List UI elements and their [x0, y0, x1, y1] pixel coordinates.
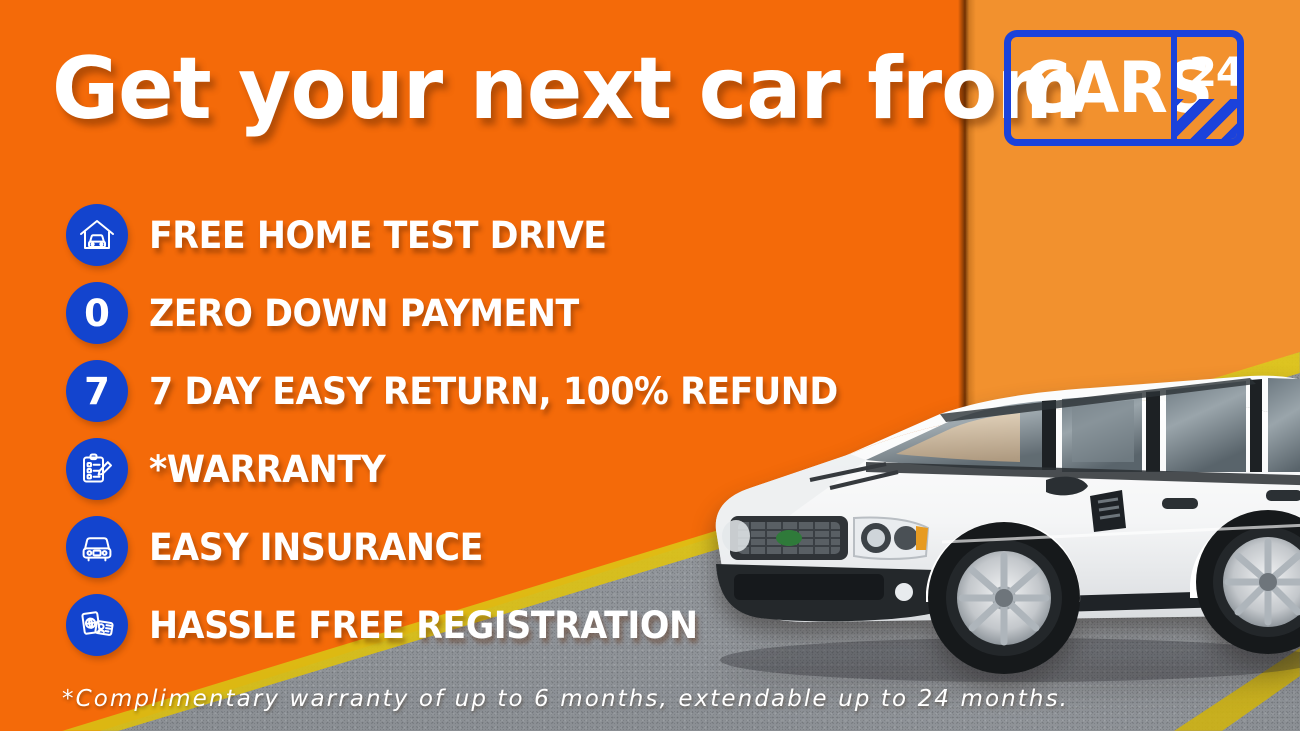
cars24-logo[interactable]: CARS 24 [1004, 30, 1244, 146]
feature-row-easy-insurance: EASY INSURANCE [66, 508, 882, 586]
badge-number: 7 [84, 373, 110, 410]
page-title: Get your next car from [52, 46, 1081, 132]
logo-number: 24 [1189, 53, 1243, 93]
feature-label: FREE HOME TEST DRIVE [149, 217, 607, 254]
feature-row-warranty: *WARRANTY [66, 430, 882, 508]
feature-row-free-home-test-drive: FREE HOME TEST DRIVE [66, 196, 882, 274]
zero-icon: 0 [66, 282, 128, 344]
feature-label: *WARRANTY [149, 451, 385, 488]
seven-icon: 7 [66, 360, 128, 422]
documents-icon [66, 594, 128, 656]
feature-label: EASY INSURANCE [149, 529, 483, 566]
home-car-icon [66, 204, 128, 266]
feature-list: FREE HOME TEST DRIVE 0 ZERO DOWN PAYMENT… [66, 196, 882, 664]
badge-number: 0 [84, 295, 110, 332]
footnote-disclaimer: *Complimentary warranty of up to 6 month… [62, 688, 1069, 711]
car-front-icon [66, 516, 128, 578]
feature-row-seven-day-return: 7 7 DAY EASY RETURN, 100% REFUND [66, 352, 882, 430]
logo-stripes-icon [1171, 99, 1237, 139]
feature-label: 7 DAY EASY RETURN, 100% REFUND [149, 373, 838, 410]
advertisement-banner: Get your next car from CARS 24 FREE HOME… [0, 0, 1300, 731]
feature-label: HASSLE FREE REGISTRATION [149, 607, 698, 644]
feature-label: ZERO DOWN PAYMENT [149, 295, 579, 332]
clipboard-pen-icon [66, 438, 128, 500]
feature-row-hassle-free-registration: HASSLE FREE REGISTRATION [66, 586, 882, 664]
feature-row-zero-down-payment: 0 ZERO DOWN PAYMENT [66, 274, 882, 352]
